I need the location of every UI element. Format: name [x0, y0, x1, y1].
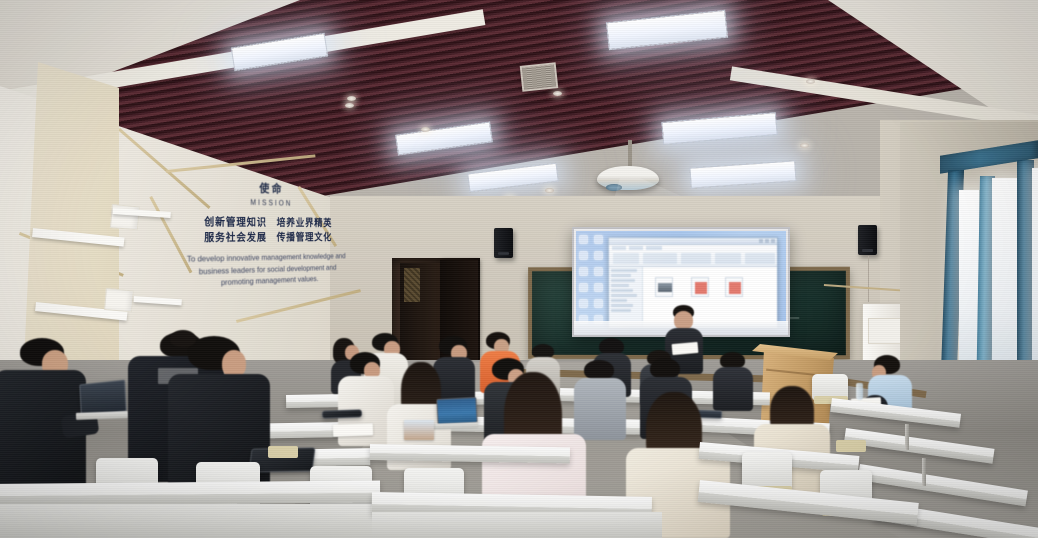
hair	[650, 358, 680, 379]
wall-speaker-right	[858, 225, 877, 255]
desktop-icon	[579, 267, 588, 276]
desktop-icon	[594, 283, 603, 292]
projector-mount-rod	[628, 140, 632, 168]
explorer-ribbon	[609, 245, 777, 267]
water-bottle	[856, 383, 863, 400]
mission-cn-line-1: 创新管理知识 培养业界精英	[178, 214, 352, 230]
book-on-desk	[404, 420, 434, 440]
hair	[584, 360, 614, 380]
door-glass-panel	[404, 268, 420, 302]
desktop-icon	[579, 251, 588, 260]
explorer-navigation-pane	[609, 267, 643, 328]
downlight-3	[345, 103, 354, 108]
mission-en-title: MISSION	[178, 196, 352, 209]
desk-leg	[922, 458, 926, 486]
desktop-icon	[594, 299, 603, 308]
explorer-titlebar	[609, 238, 777, 245]
downlight-1	[347, 96, 356, 101]
file-tile	[691, 277, 709, 297]
hair	[170, 330, 196, 347]
chair-seat-yellow-1	[268, 446, 298, 458]
downlight-7	[545, 188, 554, 193]
desk-foreground-left	[0, 481, 380, 506]
classroom-photo: 使命 MISSION 创新管理知识 培养业界精英 服务社会发展 传播管理文化 T…	[0, 0, 1038, 538]
desktop-icon-grid	[577, 232, 605, 328]
desktop-icon	[594, 235, 603, 244]
desktop-icon	[579, 283, 588, 292]
downlight-4	[806, 79, 815, 84]
wall-shelf-box-2	[104, 288, 134, 312]
speaker-wire	[868, 256, 869, 302]
explorer-body	[609, 267, 777, 328]
desk-leg	[905, 424, 909, 450]
minimize-icon	[759, 239, 763, 243]
file-tile	[655, 277, 673, 297]
desktop-icon	[594, 251, 603, 260]
presenter-paper-sheet	[672, 342, 699, 355]
desktop-icon	[579, 235, 588, 244]
desk-foreground-mid-apron	[372, 512, 662, 538]
ceiling-air-vent	[520, 62, 559, 92]
tablet-on-desk-2	[322, 409, 362, 418]
projector-lens	[606, 184, 622, 191]
laptop-screen	[436, 397, 477, 425]
downlight-6	[421, 127, 430, 132]
file-tile	[725, 277, 743, 297]
desk-foreground-left-apron	[0, 504, 380, 538]
body-gray-sweater	[574, 378, 626, 440]
chair-seat-yellow-2	[836, 440, 866, 452]
wall-speaker-left	[494, 228, 513, 258]
maximize-icon	[765, 239, 769, 243]
body	[713, 367, 753, 411]
downlight-2	[553, 91, 562, 96]
explorer-file-pane	[643, 267, 777, 328]
notebook-on-desk	[333, 423, 373, 436]
downlight-5	[800, 143, 809, 148]
desktop-icon	[594, 267, 603, 276]
close-icon	[771, 239, 775, 243]
mission-cn-line-2: 服务社会发展 传播管理文化	[178, 230, 352, 246]
mission-statement-signage: 使命 MISSION 创新管理知识 培养业界精英 服务社会发展 传播管理文化 T…	[178, 176, 352, 291]
desktop-icon	[579, 299, 588, 308]
